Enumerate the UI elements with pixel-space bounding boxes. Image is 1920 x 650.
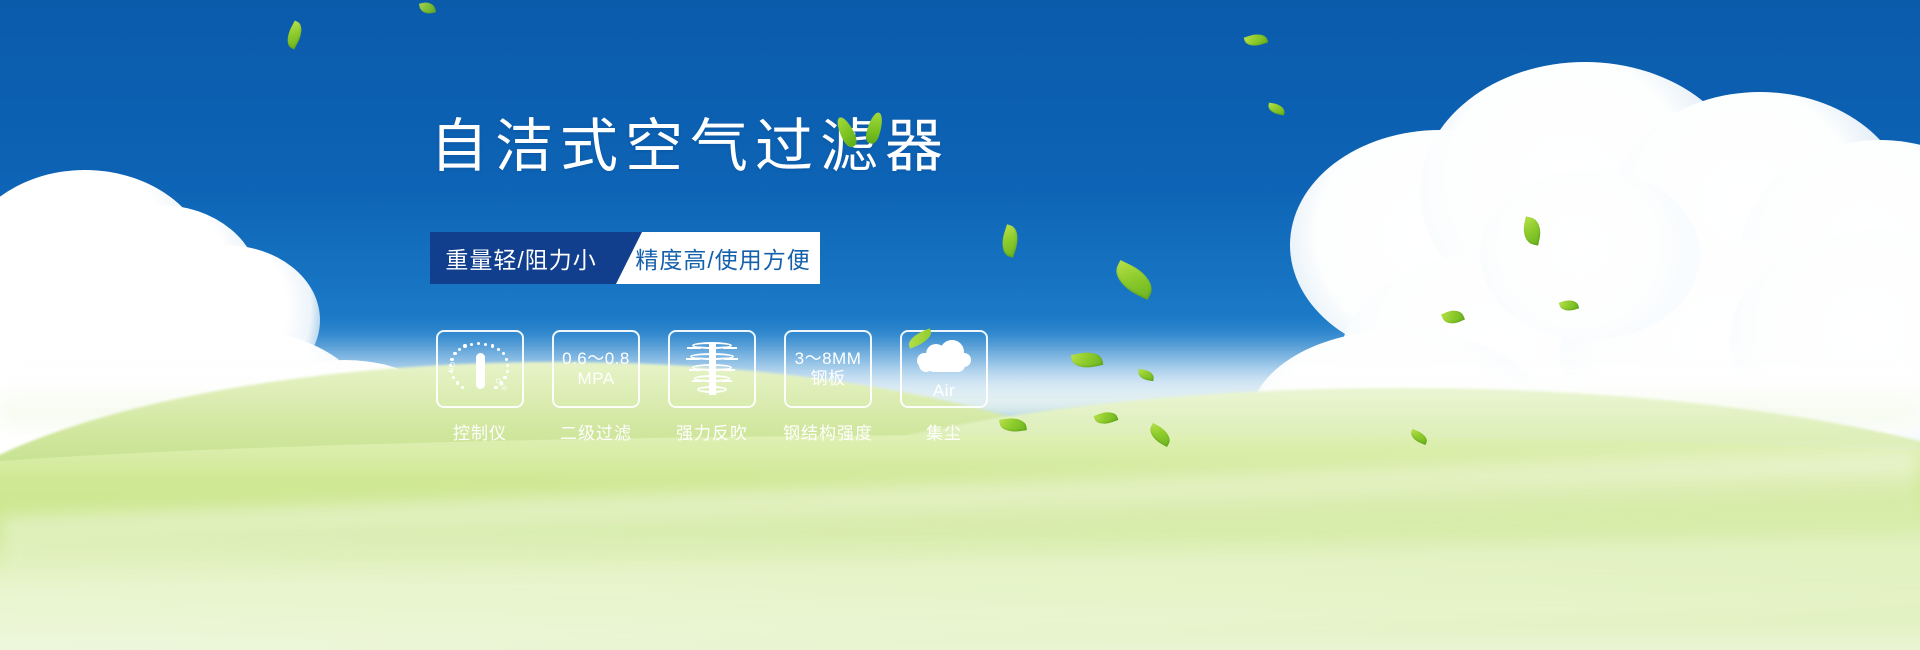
leaf-pair-icon [838, 110, 898, 154]
banner-content: 自洁式空气过滤器 重量轻/阻力小 精度高/使用方便 [0, 0, 1920, 650]
feature-blowback[interactable]: 强力反吹 [668, 330, 756, 444]
feature-caption: 集尘 [926, 419, 962, 444]
pressure-icon: 0.6〜0.8 MPA [552, 330, 640, 408]
blowback-icon [668, 330, 756, 408]
pressure-range-value: 0.6〜0.8 [562, 349, 630, 369]
feature-caption: 强力反吹 [676, 419, 748, 444]
feature-icon-row: NO OFF 控制仪 0.6〜0.8 MPA 二级过滤 [436, 330, 988, 444]
feature-caption: 钢结构强度 [783, 419, 873, 444]
feature-caption: 二级过滤 [560, 419, 632, 444]
product-banner: 自洁式空气过滤器 重量轻/阻力小 精度高/使用方便 [0, 0, 1920, 650]
tab-weight-resistance[interactable]: 重量轻/阻力小 [430, 232, 616, 284]
feature-controller[interactable]: NO OFF 控制仪 [436, 330, 524, 444]
feature-pressure[interactable]: 0.6〜0.8 MPA 二级过滤 [552, 330, 640, 444]
air-label: Air [933, 381, 955, 401]
steel-material-value: 钢板 [811, 369, 846, 389]
feature-tabs: 重量轻/阻力小 精度高/使用方便 [430, 232, 820, 284]
feature-caption: 控制仪 [453, 419, 507, 444]
steel-icon: 3〜8MM 钢板 [784, 330, 872, 408]
steel-thickness-value: 3〜8MM [795, 349, 862, 369]
pressure-unit-value: MPA [577, 369, 614, 389]
dust-cloud-icon: Air [900, 330, 988, 408]
gauge-icon: NO OFF [436, 330, 524, 408]
tab-precision-usability[interactable]: 精度高/使用方便 [642, 232, 820, 284]
feature-dust-collection[interactable]: Air 集尘 [900, 330, 988, 444]
feature-steel-strength[interactable]: 3〜8MM 钢板 钢结构强度 [784, 330, 872, 444]
